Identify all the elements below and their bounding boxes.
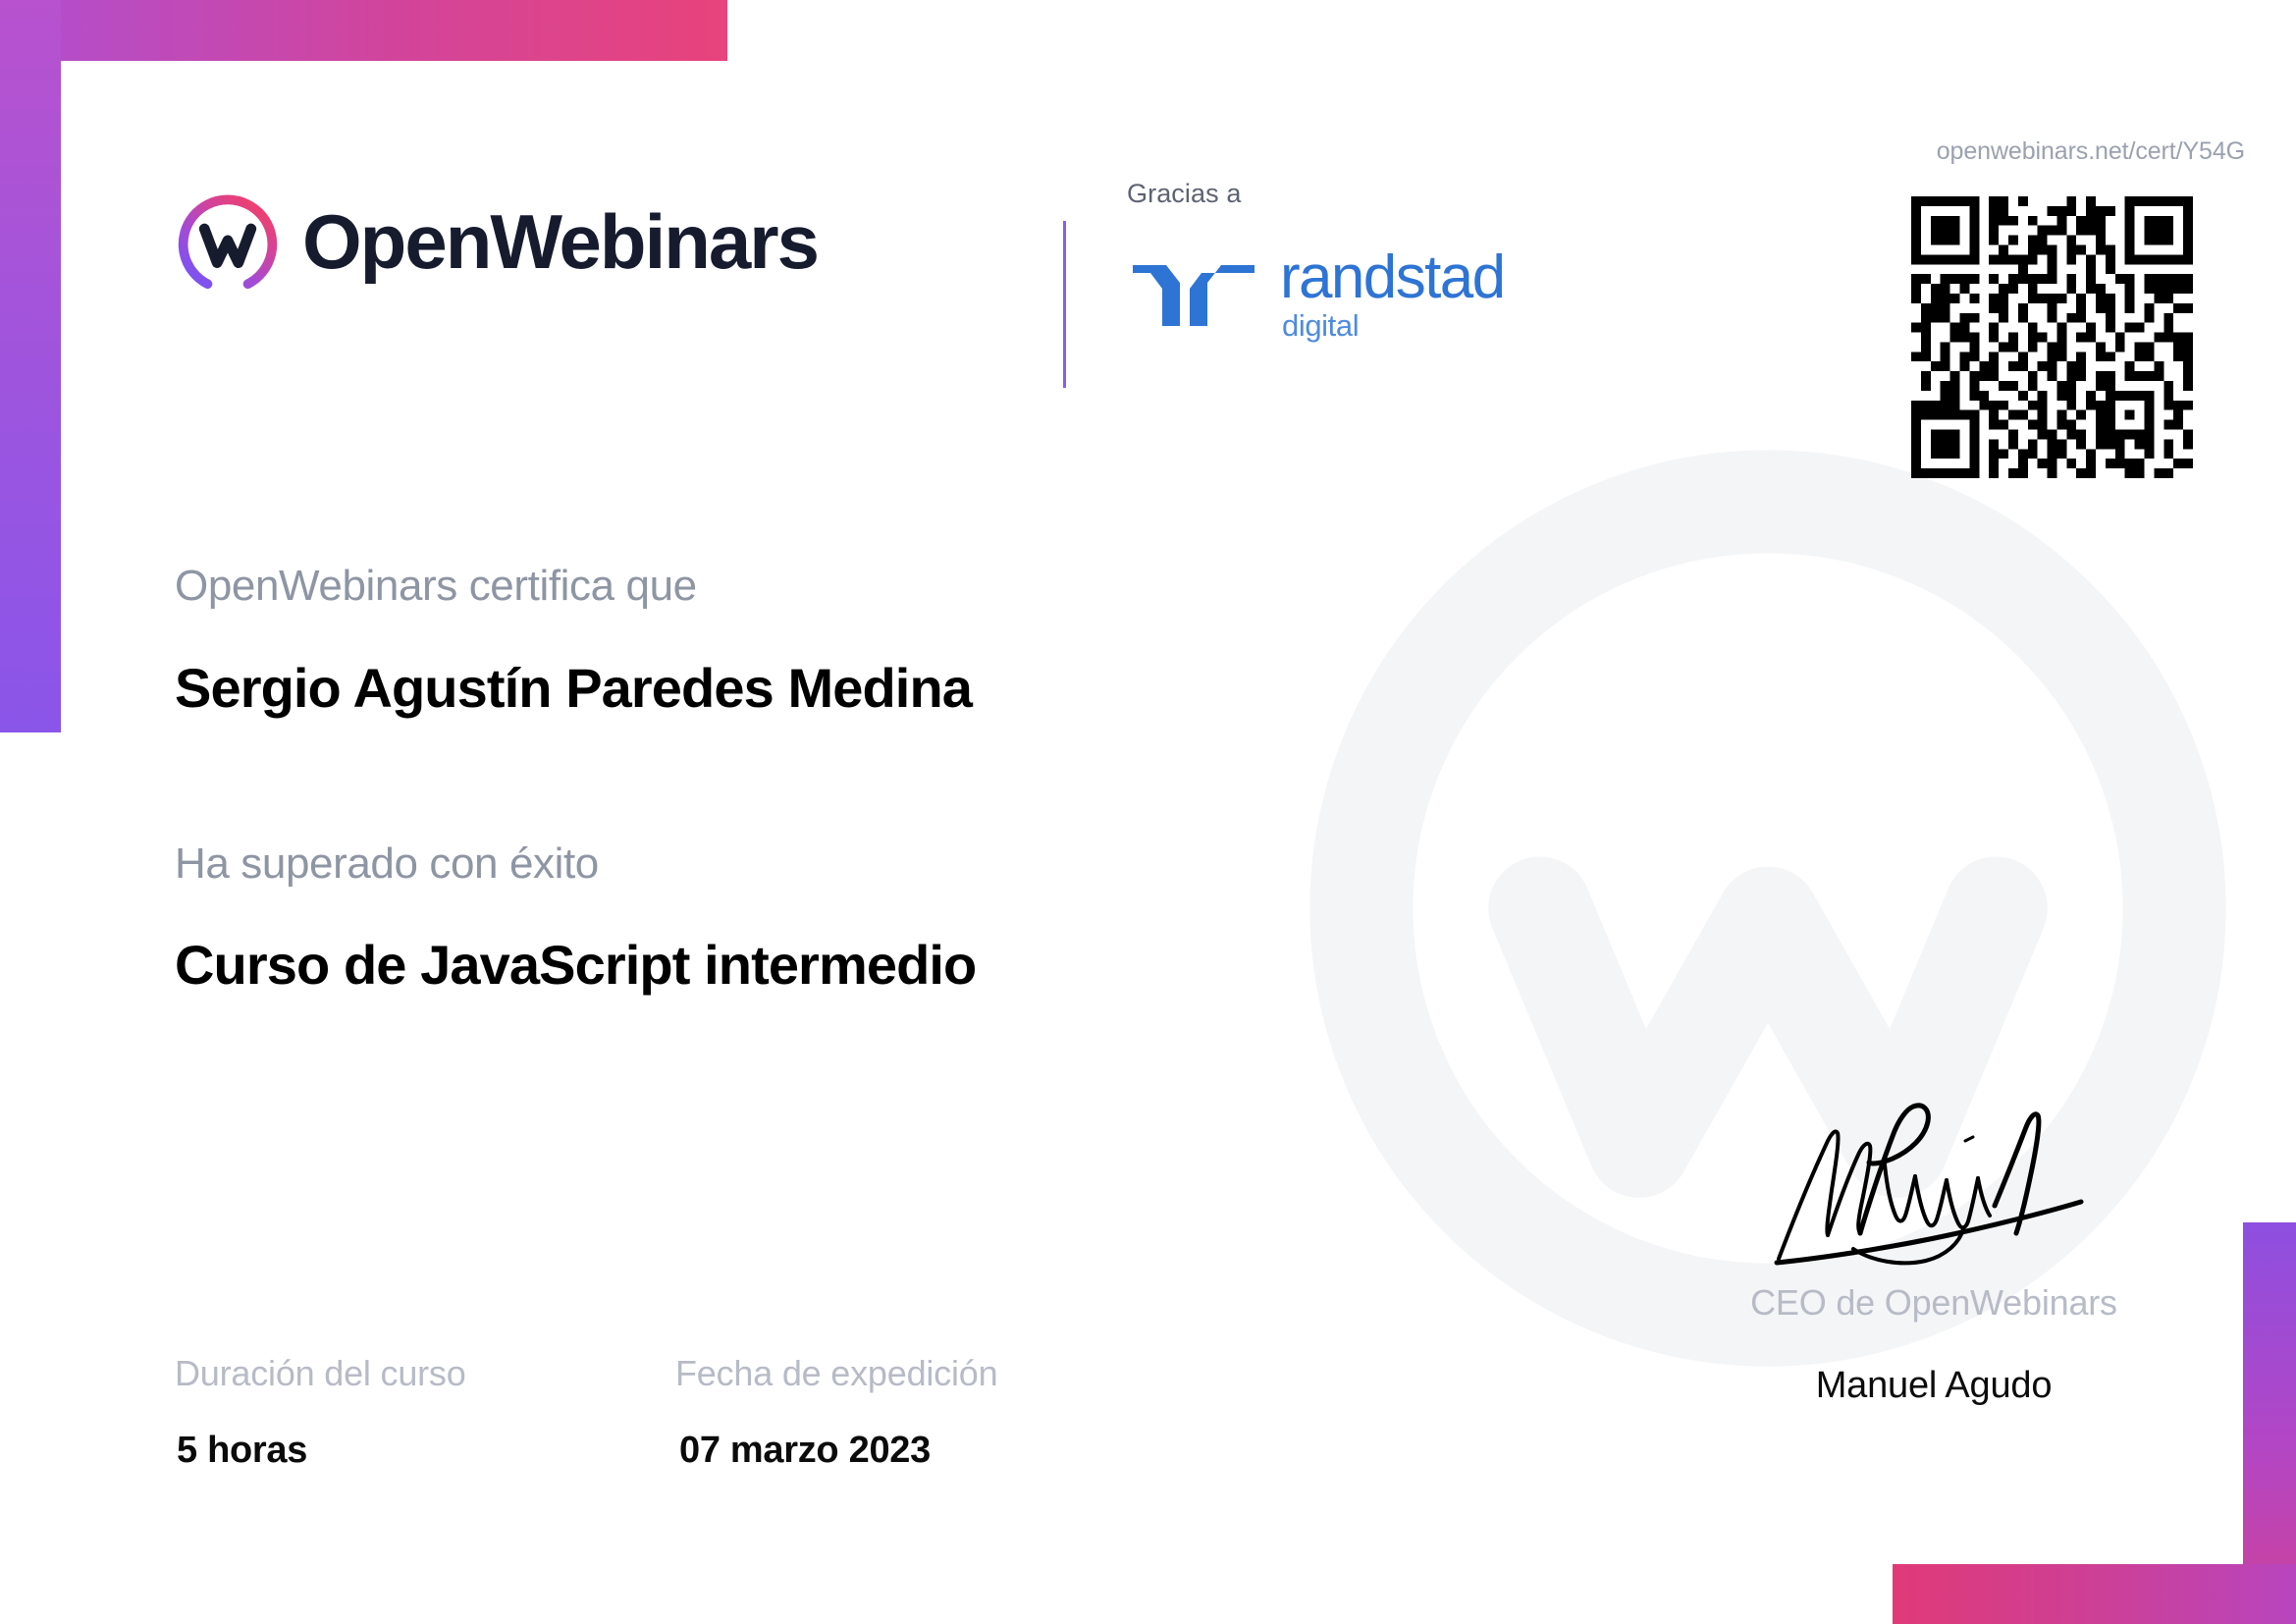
brand-wordmark: OpenWebinars [302,203,818,280]
date-value-wrap: 07 marzo 2023 [679,1430,931,1472]
date-label-wrap: Fecha de expedición [675,1353,997,1394]
handwritten-signature-icon [1737,1080,2130,1276]
duration-value-wrap: 5 horas [177,1430,307,1472]
certificate-page: OpenWebinars Gracias a randstad digital … [0,0,2296,1624]
corner-decoration-bottom [1893,1564,2296,1624]
student-name-row: Sergio Agustín Paredes Medina [175,656,972,720]
passed-label: Ha superado con éxito [175,839,599,888]
sponsor-text-block: randstad digital [1280,247,1504,341]
duration-value: 5 horas [177,1430,307,1471]
brand-logo-block: OpenWebinars [175,189,818,295]
signature-block: CEO de OpenWebinars Manuel Agudo [1703,1080,2164,1407]
qr-code-icon [1911,196,2193,478]
issue-date-label: Fecha de expedición [675,1353,997,1393]
course-name: Curso de JavaScript intermedio [175,934,976,996]
corner-decoration-top [0,0,727,61]
duration-label-wrap: Duración del curso [175,1353,466,1394]
signatory-role: CEO de OpenWebinars [1703,1282,2164,1324]
certifies-label: OpenWebinars certifica que [175,562,697,610]
duration-label: Duración del curso [175,1353,466,1393]
header-divider [1063,221,1066,388]
student-name: Sergio Agustín Paredes Medina [175,657,972,719]
corner-decoration-left [0,0,61,732]
certifies-label-row: OpenWebinars certifica que [175,562,697,611]
openwebinars-logo-icon [175,189,281,295]
signatory-name: Manuel Agudo [1703,1365,2164,1407]
sponsor-name: randstad [1280,247,1504,308]
issue-date-value: 07 marzo 2023 [679,1430,931,1471]
randstad-mark-icon [1129,251,1258,330]
passed-label-row: Ha superado con éxito [175,839,599,889]
verification-url: openwebinars.net/cert/Y54G [1937,137,2245,166]
course-name-row: Curso de JavaScript intermedio [175,933,976,997]
sponsor-subtitle: digital [1282,310,1504,341]
sponsor-logo-block: randstad digital [1129,251,1504,341]
sponsor-thanks-label: Gracias a [1127,179,1241,209]
